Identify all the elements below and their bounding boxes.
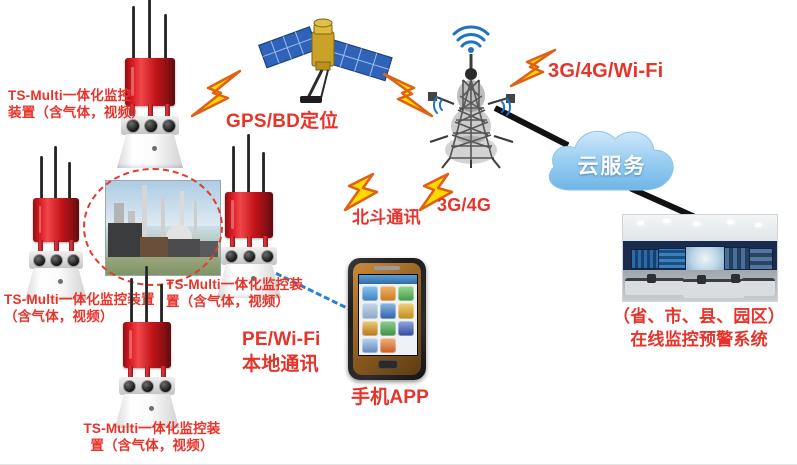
operator-chair <box>731 274 740 283</box>
camera-lens-icon <box>33 254 46 267</box>
video-wall-panel <box>658 248 686 269</box>
camera-lens-icon <box>243 250 256 263</box>
camera-lens-icon <box>162 119 176 133</box>
highlight-circle <box>83 168 223 286</box>
app-icon[interactable] <box>380 303 396 318</box>
label-3g4g-wifi: 3G/4G/Wi-Fi <box>548 59 748 84</box>
app-icon[interactable] <box>398 303 414 318</box>
ceiling-light <box>693 222 700 226</box>
status-indicator <box>152 146 157 151</box>
cloud-service-icon[interactable]: 云服务 <box>538 118 686 202</box>
device-white-base <box>117 134 183 168</box>
label-phone-app: 手机APP <box>342 386 438 410</box>
ceiling-light <box>637 221 644 225</box>
operator-chair <box>697 275 706 284</box>
camera-lens-icon <box>50 254 63 267</box>
video-wall-panel-map <box>685 246 725 271</box>
label-control-center: （省、市、县、园区） 在线监控预警系统 <box>594 306 797 352</box>
camera-lens-icon <box>261 250 274 263</box>
camera-lens-icon <box>141 380 154 393</box>
tablet-speaker <box>374 266 400 270</box>
operator-chair <box>647 274 656 283</box>
label-gps-bd: GPS/BD定位 <box>226 110 386 134</box>
label-device-mid-right: TS-Multi一体化监控装 置（含气体，视频） <box>166 277 336 311</box>
ceiling-light <box>663 219 670 223</box>
app-icon[interactable] <box>380 286 396 301</box>
video-wall-panel <box>631 249 659 269</box>
status-indicator <box>149 406 154 411</box>
ceiling-light <box>755 223 762 227</box>
ts-multi-device-mid-right[interactable] <box>212 140 288 292</box>
device-red-housing <box>123 322 171 368</box>
cell-tower-icon[interactable] <box>418 18 538 170</box>
camera-lens-icon <box>225 250 238 263</box>
status-indicator <box>58 279 63 284</box>
diagram-canvas: TS-Multi一体化监控 装置（含气体，视频） TS-Multi一体化监控装置… <box>0 0 797 465</box>
operator-desk <box>741 278 775 296</box>
label-3g4g: 3G/4G <box>437 194 537 217</box>
label-local-comm: PE/Wi-Fi 本地通讯 <box>242 328 402 377</box>
video-wall-panel-cctv <box>724 247 750 270</box>
app-icon[interactable] <box>362 303 378 318</box>
app-icon[interactable] <box>398 286 414 301</box>
label-device-bottom-left: TS-Multi一体化监控装 置（含气体，视频） <box>62 421 242 455</box>
video-wall-panel-cctv <box>749 248 773 270</box>
device-red-housing <box>33 198 79 242</box>
control-center-photo <box>622 214 778 302</box>
app-titlebar <box>359 275 417 284</box>
ts-multi-device-bottom-left[interactable] <box>110 270 186 422</box>
camera-lens-icon <box>67 254 80 267</box>
camera-lens-icon <box>159 380 172 393</box>
device-red-housing <box>225 192 273 238</box>
label-device-top-left: TS-Multi一体化监控 装置（含气体，视频） <box>8 88 158 122</box>
camera-lens-icon <box>123 380 136 393</box>
app-icon[interactable] <box>362 286 378 301</box>
ceiling-light <box>727 220 734 224</box>
cloud-service-label: 云服务 <box>538 150 686 180</box>
